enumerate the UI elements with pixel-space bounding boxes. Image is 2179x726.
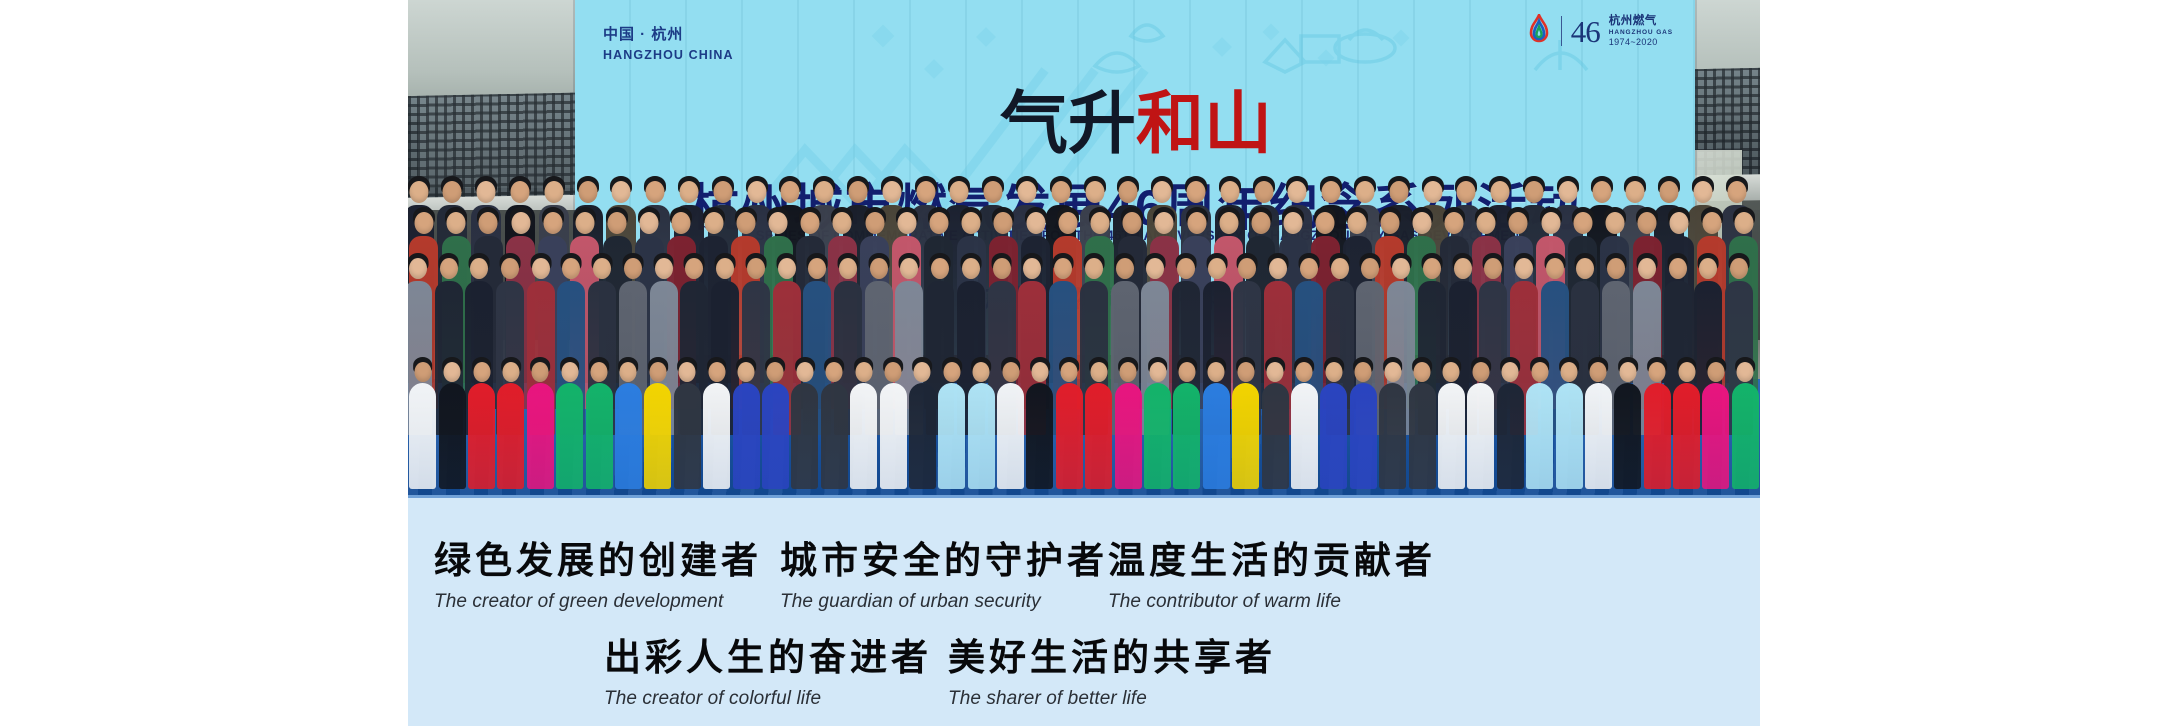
crowd-person-head (1058, 212, 1077, 234)
crowd-person-head (885, 362, 902, 382)
crowd-person (674, 359, 701, 489)
crowd-person-head (543, 212, 562, 234)
crowd-person-head (561, 362, 578, 382)
crowd-person (1056, 359, 1083, 489)
crowd-person-body (1232, 383, 1259, 489)
crowd-person-body (1144, 383, 1171, 489)
crowd-person-body (733, 383, 760, 489)
crowd-person (1644, 359, 1671, 489)
crowd-person-head (1296, 362, 1313, 382)
crowd-person-head (532, 258, 550, 279)
crowd-person-head (443, 181, 462, 203)
crowd-person-head (1331, 258, 1349, 279)
crowd-person-head (1590, 362, 1607, 382)
crowd-person-head (1061, 362, 1078, 382)
crowd-person-head (767, 362, 784, 382)
crowd-person-head (1269, 258, 1287, 279)
crowd-person-body (1556, 383, 1583, 489)
crowd-person-head (511, 212, 530, 234)
crowd-person (1203, 359, 1230, 489)
crowd-person-body (938, 383, 965, 489)
crowd-person-head (1707, 362, 1724, 382)
crowd-person (1585, 359, 1612, 489)
crowd-person-head (1116, 258, 1134, 279)
crowd-person-head (1085, 258, 1103, 279)
crowd-person (644, 359, 671, 489)
crowd-person-head (1017, 181, 1036, 203)
emblem-char-2: 升 (1068, 93, 1134, 158)
crowd-person (527, 359, 554, 489)
crowd-person-body (1056, 383, 1083, 489)
crowd-person-body (1673, 383, 1700, 489)
crowd-person-head (1702, 212, 1721, 234)
crowd-person-head (414, 212, 433, 234)
crowd-person (1556, 359, 1583, 489)
crowd-person-head (447, 212, 466, 234)
crowd-person (938, 359, 965, 489)
crowd-person (1526, 359, 1553, 489)
crowd-person-head (736, 212, 755, 234)
crowd-person-head (704, 212, 723, 234)
crowd-person-head (826, 362, 843, 382)
crowd-person-head (1219, 212, 1238, 234)
crowd-person-head (1348, 212, 1367, 234)
crowd-person-head (1737, 362, 1754, 382)
crowd-person-head (1090, 362, 1107, 382)
crowd-person-head (870, 258, 888, 279)
crowd-person-head (1423, 258, 1441, 279)
crowd-person (556, 359, 583, 489)
crowd-person-body (586, 383, 613, 489)
crowd-person-body (1115, 383, 1142, 489)
crowd-person-head (1119, 181, 1138, 203)
crowd-person-head (1051, 181, 1070, 203)
crowd-person-head (1316, 212, 1335, 234)
crowd-person-head (646, 181, 665, 203)
crowd-person-head (1355, 181, 1374, 203)
crowd-person-body (968, 383, 995, 489)
crowd-person-head (993, 258, 1011, 279)
crowd-person-head (1031, 362, 1048, 382)
crowd-person-head (1423, 181, 1442, 203)
crowd-person-head (1509, 212, 1528, 234)
crowd-person-head (1178, 362, 1195, 382)
crowd-of-attendees (408, 165, 1760, 495)
crowd-person-head (685, 258, 703, 279)
crowd-person-body (1350, 383, 1377, 489)
crowd-person-head (1322, 181, 1341, 203)
crowd-person-body (1085, 383, 1112, 489)
slogan-1-en: The creator of green development (434, 591, 762, 613)
emblem-char-4: 山 (1204, 93, 1270, 158)
crowd-person-body (880, 383, 907, 489)
crowd-person-head (624, 258, 642, 279)
crowd-person-head (796, 362, 813, 382)
crowd-person (439, 359, 466, 489)
crowd-person (1379, 359, 1406, 489)
crowd-person-head (713, 181, 732, 203)
crowd-person-head (769, 212, 788, 234)
crowd-person-head (1605, 212, 1624, 234)
crowd-person-head (593, 258, 611, 279)
crowd-person-head (1208, 258, 1226, 279)
crowd-person-head (708, 362, 725, 382)
crowd-person-head (1457, 181, 1476, 203)
crowd-person-head (1638, 258, 1656, 279)
emblem-char-3: 和 (1136, 93, 1202, 158)
crowd-person-head (1325, 362, 1342, 382)
crowd-person-head (984, 181, 1003, 203)
logo-divider (1561, 16, 1562, 46)
crowd-person (1673, 359, 1700, 489)
crowd-person-head (1727, 181, 1746, 203)
crowd-person-head (532, 362, 549, 382)
crowd-person (1026, 359, 1053, 489)
crowd-person-head (679, 362, 696, 382)
crowd-person-head (1254, 181, 1273, 203)
crowd-person-head (1267, 362, 1284, 382)
crowd-person-head (1120, 362, 1137, 382)
crowd-person-head (1002, 362, 1019, 382)
logo-company-cn: 杭州燃气 (1609, 14, 1673, 28)
crowd-person-body (644, 383, 671, 489)
crowd-person-body (1497, 383, 1524, 489)
crowd-person-head (510, 181, 529, 203)
crowd-person (1614, 359, 1641, 489)
crowd-person-head (1361, 258, 1379, 279)
logo-year-range: 1974~2020 (1609, 37, 1673, 48)
crowd-person-head (444, 362, 461, 382)
crowd-person (1291, 359, 1318, 489)
crowd-person-head (781, 181, 800, 203)
crowd-person-head (1445, 212, 1464, 234)
crowd-person-head (1531, 362, 1548, 382)
emblem-char-1: 气 (1000, 93, 1066, 158)
crowd-person-body (791, 383, 818, 489)
crowd-person-head (914, 362, 931, 382)
crowd-person-head (931, 258, 949, 279)
crowd-person-head (1153, 181, 1172, 203)
crowd-person-head (1592, 181, 1611, 203)
crowd-person-head (1561, 362, 1578, 382)
crowd-person-head (865, 212, 884, 234)
slogan-1-cn: 绿色发展的创建者 (434, 540, 762, 583)
slogan-5-en: The sharer of better life (948, 688, 1276, 710)
crowd-person-head (640, 212, 659, 234)
flame-icon (1526, 14, 1552, 48)
crowd-person (1409, 359, 1436, 489)
event-emblem: 气 升 和 山 (1000, 48, 1270, 158)
crowd-person-head (1502, 362, 1519, 382)
crowd-person-head (479, 212, 498, 234)
crowd-person (703, 359, 730, 489)
crowd-person (1144, 359, 1171, 489)
crowd-person (733, 359, 760, 489)
crowd-person-head (716, 258, 734, 279)
crowd-person-head (502, 362, 519, 382)
crowd-person-head (1384, 362, 1401, 382)
crowd-person-body (1262, 383, 1289, 489)
crowd-person-head (672, 212, 691, 234)
crowd-person-head (477, 181, 496, 203)
crowd-person-body (703, 383, 730, 489)
crowd-person-head (747, 181, 766, 203)
crowd-person-head (882, 181, 901, 203)
banner-location: 中国 · 杭州 HANGZHOU CHINA (603, 24, 734, 64)
slogan-4-en: The creator of colorful life (604, 688, 932, 710)
crowd-person-head (1484, 258, 1502, 279)
crowd-person (1350, 359, 1377, 489)
crowd-person-head (1693, 181, 1712, 203)
crowd-person-head (962, 258, 980, 279)
crowd-person-head (1208, 362, 1225, 382)
crowd-person-head (1515, 258, 1533, 279)
crowd-person-head (1284, 212, 1303, 234)
event-group-photo: 中国 · 杭州 HANGZHOU CHINA 46 杭州燃气 HANGZHOU … (408, 0, 1760, 495)
crowd-person-head (1288, 181, 1307, 203)
crowd-person-head (1054, 258, 1072, 279)
crowd-person-head (1730, 258, 1748, 279)
logo-company-en: HANGZHOU GAS (1609, 29, 1673, 37)
crowd-person-body (1467, 383, 1494, 489)
crowd-person (1467, 359, 1494, 489)
slogan-4-cn: 出彩人生的奋进者 (604, 637, 932, 680)
crowd-person-body (762, 383, 789, 489)
crowd-person (586, 359, 613, 489)
crowd-person-head (1699, 258, 1717, 279)
crowd-person (997, 359, 1024, 489)
crowd-person-head (1090, 212, 1109, 234)
crowd-person (468, 359, 495, 489)
slogan-panel: 绿色发展的创建者 The creator of green developmen… (408, 495, 1760, 726)
crowd-person-head (1734, 212, 1753, 234)
slogan-3: 温度生活的贡献者 The contributor of warm life (1108, 540, 1436, 613)
crowd-person-head (1146, 258, 1164, 279)
crowd-person-head (591, 362, 608, 382)
banner-location-en: HANGZHOU CHINA (603, 46, 734, 64)
slogan-2-cn: 城市安全的守护者 (780, 540, 1108, 583)
crowd-person-head (1546, 258, 1564, 279)
crowd-person-head (897, 212, 916, 234)
crowd-person (1438, 359, 1465, 489)
crowd-person-head (1412, 212, 1431, 234)
crowd-person-head (1186, 181, 1205, 203)
crowd-person-head (1541, 212, 1560, 234)
slogan-5-cn: 美好生活的共享者 (948, 637, 1276, 680)
crowd-person-head (1491, 181, 1510, 203)
crowd-person-head (409, 181, 428, 203)
crowd-person-body (556, 383, 583, 489)
hangzhou-gas-logo: 46 杭州燃气 HANGZHOU GAS 1974~2020 (1526, 14, 1673, 48)
crowd-person (1320, 359, 1347, 489)
crowd-person (1085, 359, 1112, 489)
crowd-person-head (1660, 181, 1679, 203)
crowd-person-head (1085, 181, 1104, 203)
crowd-person-head (738, 362, 755, 382)
crowd-person-head (1477, 212, 1496, 234)
crowd-person-head (578, 181, 597, 203)
crowd-person-head (833, 212, 852, 234)
crowd-person (762, 359, 789, 489)
crowd-person-head (1524, 181, 1543, 203)
crowd-person-head (1023, 258, 1041, 279)
crowd-person-body (909, 383, 936, 489)
slogan-4: 出彩人生的奋进者 The creator of colorful life (604, 637, 932, 710)
crowd-person-head (801, 212, 820, 234)
crowd-person-body (1291, 383, 1318, 489)
crowd-person-head (440, 258, 458, 279)
crowd-person-head (1389, 181, 1408, 203)
crowd-person-head (1558, 181, 1577, 203)
crowd-person-head (1443, 362, 1460, 382)
crowd-person-body (527, 383, 554, 489)
crowd-person-head (747, 258, 765, 279)
crowd-person-head (848, 181, 867, 203)
crowd-person-body (468, 383, 495, 489)
crowd-person-body (497, 383, 524, 489)
slogan-1: 绿色发展的创建者 The creator of green developmen… (434, 540, 762, 613)
crowd-person-head (929, 212, 948, 234)
crowd-person (1497, 359, 1524, 489)
crowd-person-head (649, 362, 666, 382)
crowd-person-body (615, 383, 642, 489)
crowd-person (1702, 359, 1729, 489)
crowd-person-head (1392, 258, 1410, 279)
crowd-person-body (1409, 383, 1436, 489)
crowd-person-body (1026, 383, 1053, 489)
crowd-person-head (1454, 258, 1472, 279)
crowd-person-head (1220, 181, 1239, 203)
crowd-person-head (544, 181, 563, 203)
crowd-person-head (501, 258, 519, 279)
crowd-person-head (608, 212, 627, 234)
crowd-person-head (1177, 258, 1195, 279)
slogan-3-en: The contributor of warm life (1108, 591, 1436, 613)
crowd-person-head (1237, 362, 1254, 382)
crowd-person-head (994, 212, 1013, 234)
crowd-person-head (950, 181, 969, 203)
crowd-person (497, 359, 524, 489)
slogan-2-en: The guardian of urban security (780, 591, 1108, 613)
crowd-person-head (1576, 258, 1594, 279)
crowd-person-body (1379, 383, 1406, 489)
crowd-person (1262, 359, 1289, 489)
crowd-person-head (855, 362, 872, 382)
crowd-person-head (473, 362, 490, 382)
crowd-person-head (1638, 212, 1657, 234)
crowd-person-body (997, 383, 1024, 489)
crowd-person (880, 359, 907, 489)
crowd-person-head (1669, 258, 1687, 279)
crowd-person-head (620, 362, 637, 382)
crowd-person-body (1614, 383, 1641, 489)
crowd-person (615, 359, 642, 489)
crowd-person-head (808, 258, 826, 279)
crowd-person-head (815, 181, 834, 203)
crowd-person-body (439, 383, 466, 489)
crowd-person (791, 359, 818, 489)
crowd-person-head (1155, 212, 1174, 234)
crowd-person-head (679, 181, 698, 203)
crowd-person-body (1173, 383, 1200, 489)
crowd-person-body (1732, 383, 1759, 489)
crowd-person-head (900, 258, 918, 279)
crowd-person-head (612, 181, 631, 203)
crowd-person-head (1678, 362, 1695, 382)
crowd-person-head (409, 258, 427, 279)
crowd-person-head (1626, 181, 1645, 203)
crowd-person-head (1380, 212, 1399, 234)
crowd-person (821, 359, 848, 489)
crowd-person-body (1702, 383, 1729, 489)
slogan-2: 城市安全的守护者 The guardian of urban security (780, 540, 1108, 613)
content-column: 中国 · 杭州 HANGZHOU CHINA 46 杭州燃气 HANGZHOU … (408, 0, 1760, 726)
crowd-person-head (1026, 212, 1045, 234)
crowd-person (1115, 359, 1142, 489)
crowd-person-head (1238, 258, 1256, 279)
crowd-person (909, 359, 936, 489)
crowd-person-body (1585, 383, 1612, 489)
crowd-person-head (562, 258, 580, 279)
crowd-person-head (1414, 362, 1431, 382)
crowd-person (850, 359, 877, 489)
crowd-person-head (1670, 212, 1689, 234)
crowd-person-head (1649, 362, 1666, 382)
banner-location-cn: 中国 · 杭州 (603, 24, 734, 46)
crowd-person-head (943, 362, 960, 382)
crowd-person-body (1438, 383, 1465, 489)
crowd-person-head (1251, 212, 1270, 234)
crowd-person-head (1573, 212, 1592, 234)
crowd-person-head (1149, 362, 1166, 382)
crowd-person-head (962, 212, 981, 234)
crowd-person-head (1187, 212, 1206, 234)
crowd-person-head (470, 258, 488, 279)
crowd-person-head (1123, 212, 1142, 234)
crowd-person-body (1320, 383, 1347, 489)
crowd-person (1732, 359, 1759, 489)
crowd-person-head (1355, 362, 1372, 382)
crowd-person-head (655, 258, 673, 279)
slogan-5: 美好生活的共享者 The sharer of better life (948, 637, 1276, 710)
crowd-person (1232, 359, 1259, 489)
crowd-person-head (839, 258, 857, 279)
crowd-person-head (1619, 362, 1636, 382)
page-root: 中国 · 杭州 HANGZHOU CHINA 46 杭州燃气 HANGZHOU … (0, 0, 2179, 726)
crowd-person (1173, 359, 1200, 489)
crowd-person-body (1526, 383, 1553, 489)
crowd-person-head (916, 181, 935, 203)
crowd-person-body (850, 383, 877, 489)
crowd-person-head (575, 212, 594, 234)
crowd-person-head (778, 258, 796, 279)
crowd-person-body (674, 383, 701, 489)
crowd-person-head (1472, 362, 1489, 382)
crowd-person (968, 359, 995, 489)
slogan-3-cn: 温度生活的贡献者 (1108, 540, 1436, 583)
crowd-person-body (409, 383, 436, 489)
crowd-person-body (1203, 383, 1230, 489)
panel-top-rule (408, 495, 1760, 498)
logo-text-block: 杭州燃气 HANGZHOU GAS 1974~2020 (1609, 14, 1673, 48)
crowd-person-head (1300, 258, 1318, 279)
crowd-person-body (1644, 383, 1671, 489)
crowd-person (409, 359, 436, 489)
crowd-person-body (821, 383, 848, 489)
crowd-person-head (1607, 258, 1625, 279)
anniversary-number: 46 (1571, 16, 1600, 47)
crowd-person-head (414, 362, 431, 382)
